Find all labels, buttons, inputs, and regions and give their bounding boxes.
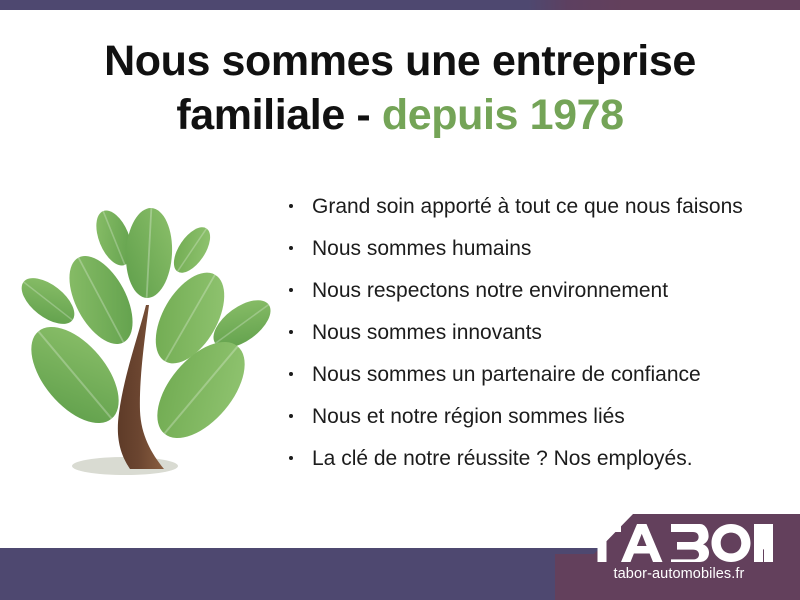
list-item-label: Nous sommes humains xyxy=(312,237,531,260)
bullet-dot-icon xyxy=(289,204,293,208)
list-item-label: Nous sommes un partenaire de confiance xyxy=(312,363,701,386)
tree-illustration xyxy=(18,185,280,505)
heading-line-2: familiale - depuis 1978 xyxy=(0,88,800,142)
bullet-dot-icon xyxy=(289,456,293,460)
list-item-label: La clé de notre réussite ? Nos employés. xyxy=(312,447,693,470)
list-item-label: Nous et notre région sommes liés xyxy=(312,405,625,428)
tabor-logo xyxy=(583,524,773,562)
list-item: Nous sommes innovants xyxy=(286,318,756,360)
bullet-dot-icon xyxy=(289,288,293,292)
page-title: Nous sommes une entreprise familiale - d… xyxy=(0,34,800,142)
logo-url-label: tabor-automobiles.fr xyxy=(583,566,775,582)
bullet-dot-icon xyxy=(289,414,293,418)
tree-leaf xyxy=(124,207,175,299)
logo-block: tabor-automobiles.fr xyxy=(555,508,800,600)
list-item-label: Grand soin apporté à tout ce que nous fa… xyxy=(312,195,743,218)
bullet-dot-icon xyxy=(289,246,293,250)
list-item: Nous sommes un partenaire de confiance xyxy=(286,360,756,402)
top-accent-bar xyxy=(0,0,800,10)
list-item: Nous respectons notre environnement xyxy=(286,276,756,318)
heading-accent-text: depuis 1978 xyxy=(382,91,624,139)
list-item-label: Nous sommes innovants xyxy=(312,321,542,344)
list-item: La clé de notre réussite ? Nos employés. xyxy=(286,444,756,486)
list-item-label: Nous respectons notre environnement xyxy=(312,279,668,302)
tree-leaf xyxy=(167,221,218,279)
heading-line-1: Nous sommes une entreprise xyxy=(104,37,696,85)
heading-line-2-plain: familiale - xyxy=(176,91,382,139)
bullet-dot-icon xyxy=(289,330,293,334)
slide-canvas: Nous sommes une entreprise familiale - d… xyxy=(0,0,800,600)
value-bullet-list: Grand soin apporté à tout ce que nous fa… xyxy=(286,192,756,486)
list-item: Nous et notre région sommes liés xyxy=(286,402,756,444)
list-item: Nous sommes humains xyxy=(286,234,756,276)
bullet-dot-icon xyxy=(289,372,293,376)
list-item: Grand soin apporté à tout ce que nous fa… xyxy=(286,192,756,234)
